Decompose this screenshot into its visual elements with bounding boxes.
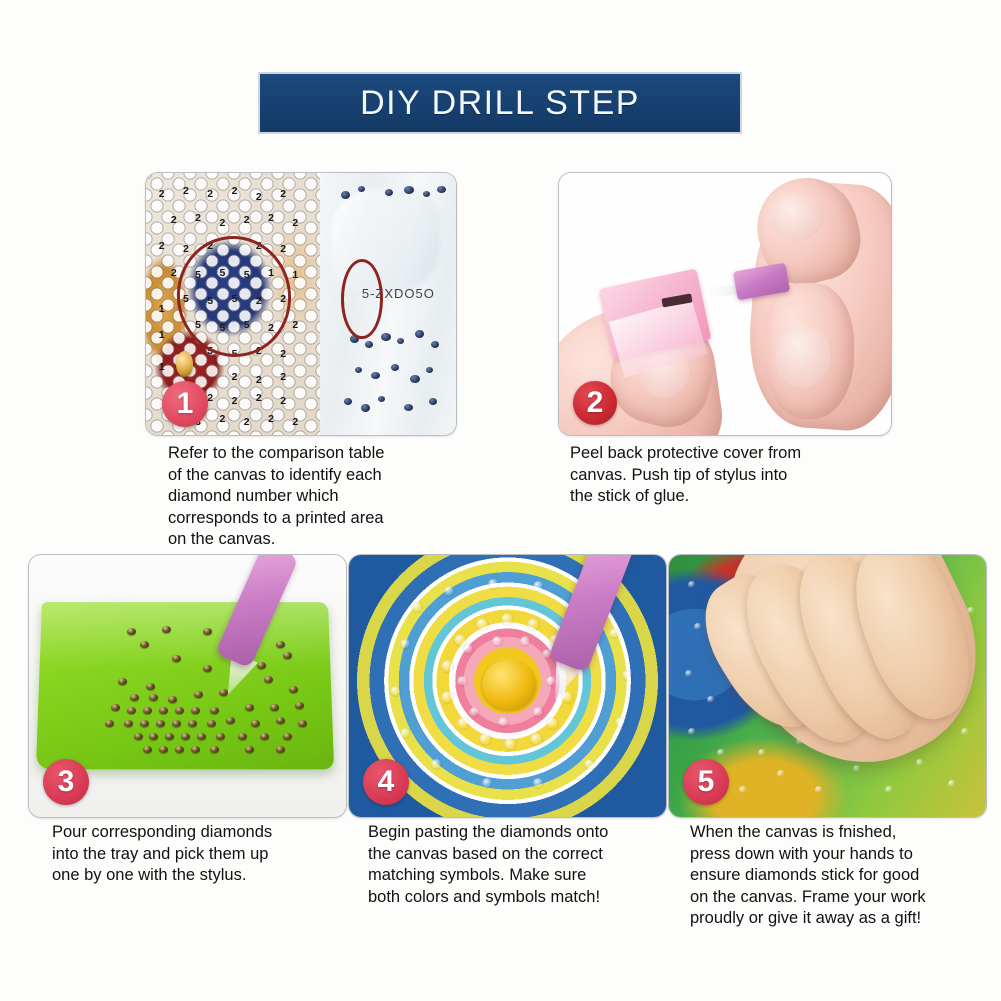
step-caption-1: Refer to the comparison table of the can… (168, 443, 468, 551)
step-caption-4: Begin pasting the diamonds onto the canv… (368, 822, 673, 908)
step-badge-3: 3 (43, 759, 89, 805)
canvas-gold-bead (176, 351, 193, 377)
step-image-2: 2 (558, 172, 892, 436)
step-image-1: 222 222 222 222 222 22 255 511 555 22 1 … (145, 172, 457, 436)
step-badge-2: 2 (573, 381, 617, 425)
step-card-3: 3 (28, 554, 345, 816)
step-badge-4: 4 (363, 759, 409, 805)
step-card-5: 5 (668, 554, 985, 816)
step-card-4: 4 (348, 554, 665, 816)
page-title: DIY DRILL STEP (360, 84, 640, 123)
right-thumb-nail (775, 325, 831, 388)
mandala-center-gem (482, 660, 536, 710)
page-title-banner: DIY DRILL STEP (258, 72, 742, 134)
step-image-5: 5 (668, 554, 987, 818)
step-card-2: 2 (558, 172, 890, 434)
step-badge-5: 5 (683, 759, 729, 805)
step-caption-3: Pour corresponding diamonds into the tra… (52, 822, 352, 887)
step-badge-1: 1 (162, 381, 208, 427)
bag-label-text: 5-ZXDO5O (362, 286, 435, 301)
drill-bag: 5-ZXDO5O (320, 173, 456, 435)
step-caption-5: When the canvas is fnished, press down w… (690, 822, 995, 930)
step-caption-2: Peel back protective cover from canvas. … (570, 443, 890, 508)
green-diamond-tray (35, 602, 333, 769)
step-image-4: 4 (348, 554, 667, 818)
step-card-1: 222 222 222 222 222 22 255 511 555 22 1 … (145, 172, 455, 434)
step-image-3: 3 (28, 554, 347, 818)
